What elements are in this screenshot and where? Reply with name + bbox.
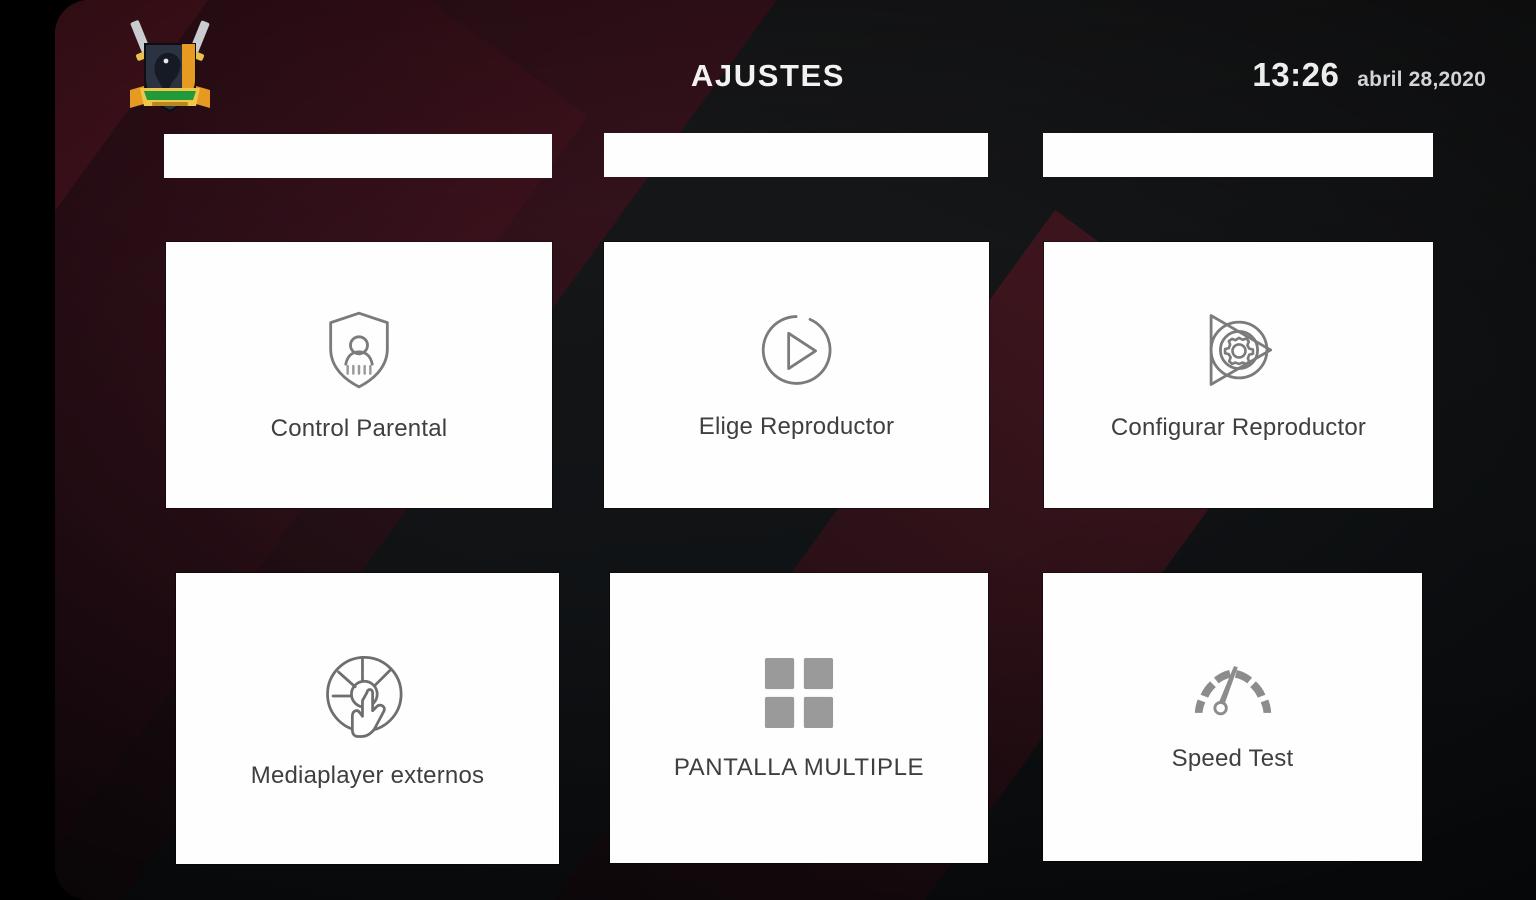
app-root: AJUSTES 13:26 abril 28,2020 (0, 0, 1536, 900)
tile-speed-test[interactable]: Speed Test (1043, 573, 1422, 861)
tile-configurar-reproductor[interactable]: Configurar Reproductor (1044, 242, 1433, 508)
tile-control-parental[interactable]: Control Parental (166, 242, 552, 508)
tile-label: Elige Reproductor (699, 415, 895, 439)
tile-pantalla-multiple[interactable]: PANTALLA MULTIPLE (610, 573, 988, 863)
top-stub-card-1[interactable] (164, 134, 552, 178)
clock-time: 13:26 (1252, 56, 1339, 94)
four-tiles-grid-icon (763, 656, 835, 730)
top-stub-card-2[interactable] (604, 133, 988, 177)
disc-hand-pointer-icon (322, 650, 414, 742)
tile-label: PANTALLA MULTIPLE (674, 756, 924, 780)
top-stub-card-3[interactable] (1043, 133, 1433, 177)
tile-label: Control Parental (271, 417, 448, 441)
shield-person-icon (325, 309, 393, 391)
clock-date: abril 28,2020 (1357, 68, 1486, 92)
tile-label: Configurar Reproductor (1111, 416, 1366, 440)
header-bar: AJUSTES 13:26 abril 28,2020 (0, 0, 1536, 128)
tile-label: Speed Test (1172, 747, 1294, 771)
play-circle-icon (758, 311, 836, 389)
play-gear-icon (1198, 310, 1280, 390)
tile-elige-reproductor[interactable]: Elige Reproductor (604, 242, 989, 508)
speedometer-gauge-icon (1192, 663, 1274, 717)
settings-grid: Control Parental Elige Reproductor (0, 0, 1536, 900)
tile-mediaplayer-externos[interactable]: Mediaplayer externos (176, 573, 559, 864)
clock-date-group: 13:26 abril 28,2020 (1252, 56, 1486, 94)
tile-label: Mediaplayer externos (251, 764, 484, 788)
